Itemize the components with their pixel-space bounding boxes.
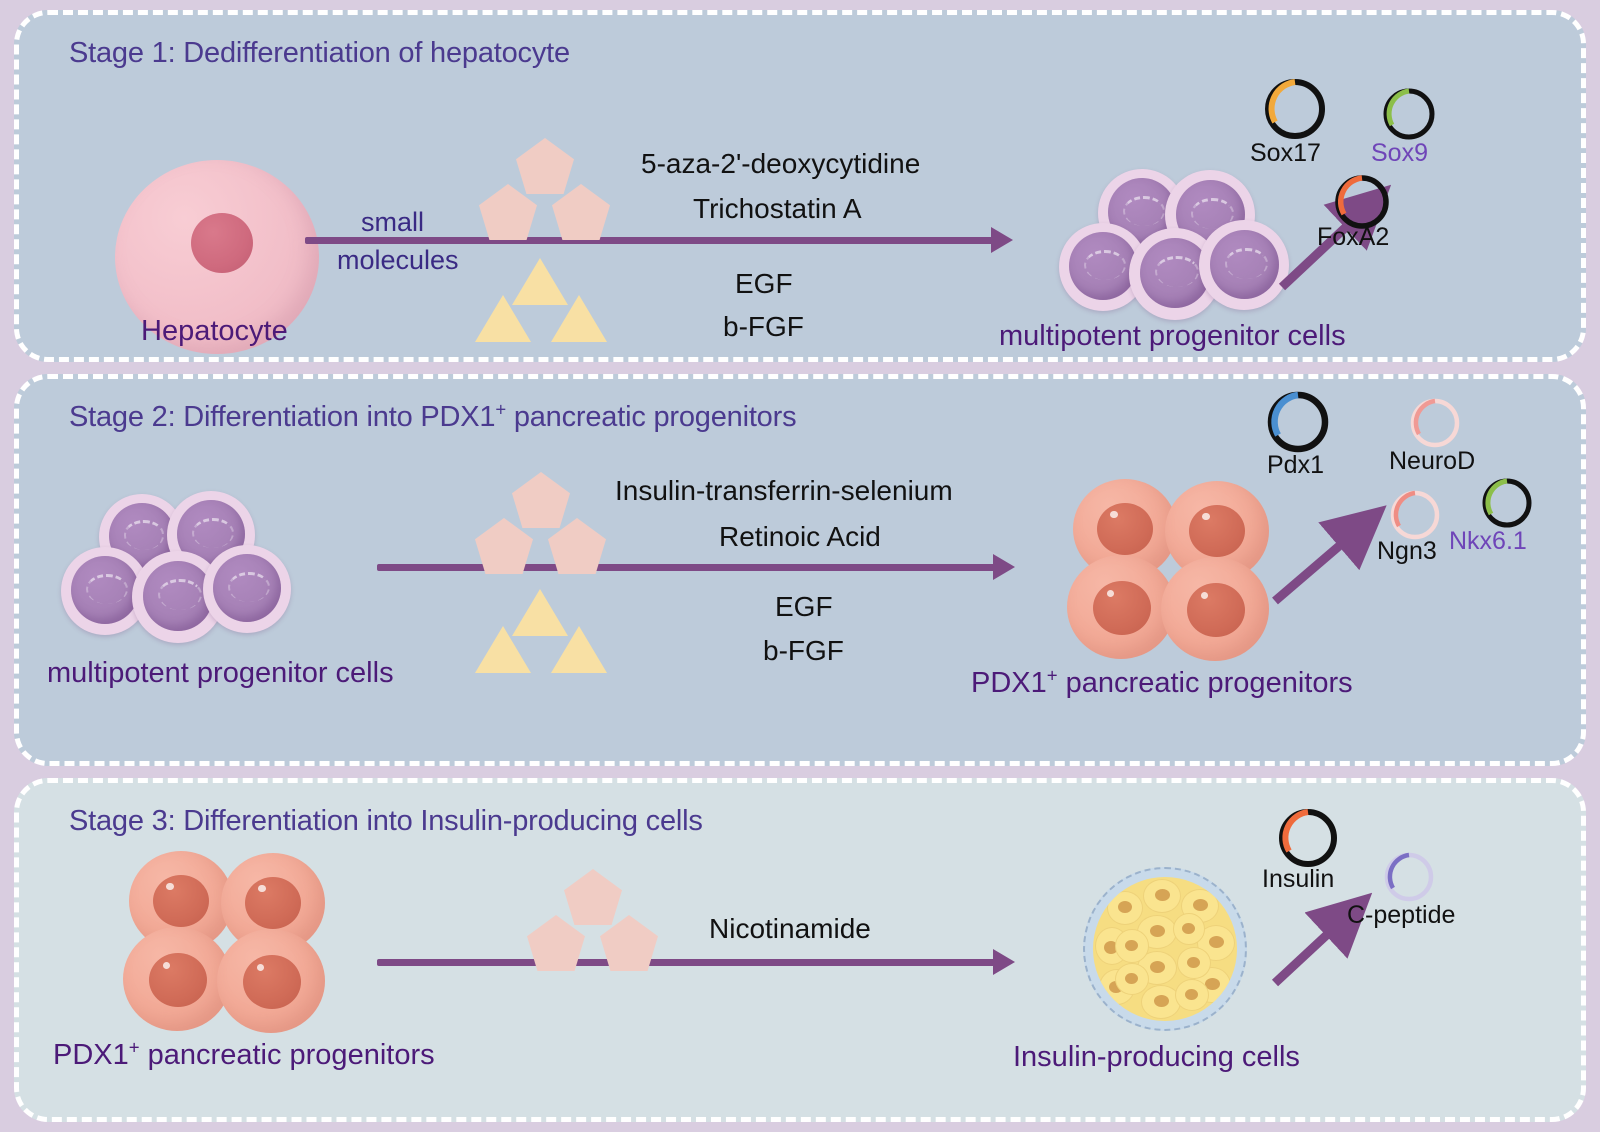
neurod-label: NeuroD: [1389, 447, 1475, 476]
small-molecules-label-line1: small: [361, 207, 424, 238]
pdx1-source-label: PDX1+ pancreatic progenitors: [53, 1039, 435, 1072]
sox9-ring-icon: [1382, 87, 1436, 141]
ngn3-label: Ngn3: [1377, 537, 1437, 566]
small-molecules-label-line2: molecules: [337, 245, 459, 276]
stage-2-factor-above-1: Insulin-transferrin-selenium: [615, 475, 953, 507]
insulin-marker-label: Insulin: [1262, 865, 1334, 894]
c-peptide-label: C-peptide: [1347, 901, 1455, 930]
pdx1-progenitor-label: PDX1+ pancreatic progenitors: [971, 667, 1353, 700]
stage-1-arrow-line: [305, 237, 995, 244]
sox17-label: Sox17: [1250, 139, 1321, 168]
multipotent-progenitor-source-label: multipotent progenitor cells: [47, 657, 394, 690]
foxa2-label: FoxA2: [1317, 223, 1389, 252]
stage-1-factor-below-2: b-FGF: [723, 311, 804, 343]
insulin-ring-icon: [1277, 807, 1339, 869]
stage-1-panel: Stage 1: Dedifferentiation of hepatocyte…: [14, 10, 1586, 362]
neurod-ring-icon: [1409, 397, 1461, 449]
pdx1-marker-label: Pdx1: [1267, 451, 1324, 480]
stage-3-arrow-line: [377, 959, 997, 966]
insulin-producing-islet: [1093, 877, 1237, 1021]
stage-1-factor-above-1: 5-aza-2'-deoxycytidine: [641, 148, 920, 180]
sox17-ring-icon: [1263, 77, 1327, 141]
diagonal-arrow-icon: [1267, 883, 1397, 993]
triangle-molecule-icon: [512, 258, 568, 305]
stage-1-arrow-head: [991, 227, 1013, 253]
stage-1-title: Stage 1: Dedifferentiation of hepatocyte: [69, 37, 570, 70]
figure-canvas: Stage 1: Dedifferentiation of hepatocyte…: [0, 0, 1600, 1132]
stage-2-panel: Stage 2: Differentiation into PDX1+ panc…: [14, 374, 1586, 766]
stage-1-factor-below-1: EGF: [735, 268, 793, 300]
stage-2-arrow-head: [993, 554, 1015, 580]
stage-1-factor-above-2: Trichostatin A: [693, 193, 862, 225]
stage-3-factor-above-1: Nicotinamide: [709, 913, 871, 945]
sox9-label: Sox9: [1371, 139, 1428, 168]
triangle-molecule-icon: [512, 589, 568, 636]
stage-2-factor-below-1: EGF: [775, 591, 833, 623]
stage-3-panel: Stage 3: Differentiation into Insulin-pr…: [14, 778, 1586, 1122]
nkx61-label: Nkx6.1: [1449, 527, 1527, 556]
insulin-producing-cells-label: Insulin-producing cells: [1013, 1041, 1300, 1074]
hepatocyte-nucleus: [191, 213, 253, 273]
nkx61-ring-icon: [1481, 477, 1533, 529]
stage-3-arrow-head: [993, 949, 1015, 975]
stage-3-title: Stage 3: Differentiation into Insulin-pr…: [69, 805, 703, 838]
pentagon-molecule-icon: [512, 472, 570, 528]
stage-2-arrow-line: [377, 564, 997, 571]
stage-2-title: Stage 2: Differentiation into PDX1+ panc…: [69, 401, 796, 434]
c-peptide-ring-icon: [1383, 851, 1435, 903]
pdx1-ring-icon: [1265, 389, 1331, 455]
pentagon-molecule-icon: [564, 869, 622, 925]
stage-2-factor-below-2: b-FGF: [763, 635, 844, 667]
hepatocyte-label: Hepatocyte: [141, 315, 288, 348]
multipotent-progenitor-label: multipotent progenitor cells: [999, 320, 1346, 353]
ngn3-ring-icon: [1389, 489, 1441, 541]
stage-2-factor-above-2: Retinoic Acid: [719, 521, 881, 553]
pentagon-molecule-icon: [516, 138, 574, 194]
